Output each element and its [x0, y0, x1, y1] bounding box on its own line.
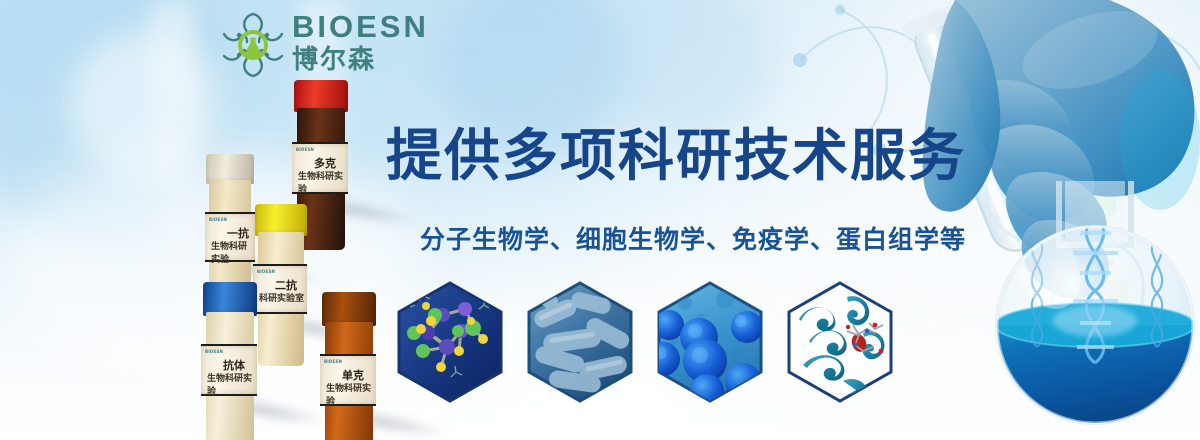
service-icon-row [395, 281, 915, 403]
brand-name-en: BIOESN [292, 10, 412, 44]
background-bokeh [600, 0, 770, 140]
vial-brand: BIOESN [205, 349, 223, 354]
vial-label: BIOESN 二抗 科研实验室 [253, 264, 307, 314]
round-flask-with-blue-liquid-and-dna [985, 175, 1200, 440]
page-subtitle: 分子生物学、细胞生物学、免疫学、蛋白组学等 [420, 224, 966, 256]
vial-secondary-antibody: BIOESN 二抗 科研实验室 [252, 204, 310, 366]
product-vial-group: BIOESN 一抗 生物科研实验 BIOESN 多克 生物科研实验 BIOESN… [190, 70, 400, 410]
hex-icon-protein-structure[interactable] [785, 281, 895, 403]
vial-brand: BIOESN [324, 359, 342, 364]
vial-antibody-blue: BIOESN 抗体 生物科研实验 [200, 282, 260, 440]
promo-banner: BIOESN 博尔森 提供多项科研技术服务 分子生物学、细胞生物学、免疫学、蛋白… [0, 0, 1200, 440]
vial-label-line2: 生物科研实验 [207, 371, 257, 397]
vial-brand: BIOESN [209, 217, 227, 222]
vial-label-line2: 科研实验室 [259, 291, 304, 304]
vial-label: BIOESN 多克 生物科研实验 [292, 142, 348, 194]
vial-label-line2: 生物科研实验 [211, 239, 255, 265]
vial-label: BIOESN 抗体 生物科研实验 [201, 344, 257, 396]
vial-brand: BIOESN [296, 147, 314, 152]
hex-icon-molecular-network[interactable] [395, 281, 505, 403]
page-title: 提供多项科研技术服务 [386, 126, 966, 188]
vial-label: BIOESN 一抗 生物科研实验 [205, 212, 255, 262]
hex-icon-cells[interactable] [655, 281, 765, 403]
vial-label-line2: 生物科研实验 [298, 169, 348, 195]
vial-brand: BIOESN [257, 269, 275, 274]
hex-icon-bacteria[interactable] [525, 281, 635, 403]
vial-label-line2: 生物科研实验 [326, 381, 376, 407]
vial-monoclonal: BIOESN 单克 生物科研实验 [318, 292, 378, 440]
vial-label: BIOESN 单克 生物科研实验 [320, 354, 376, 406]
